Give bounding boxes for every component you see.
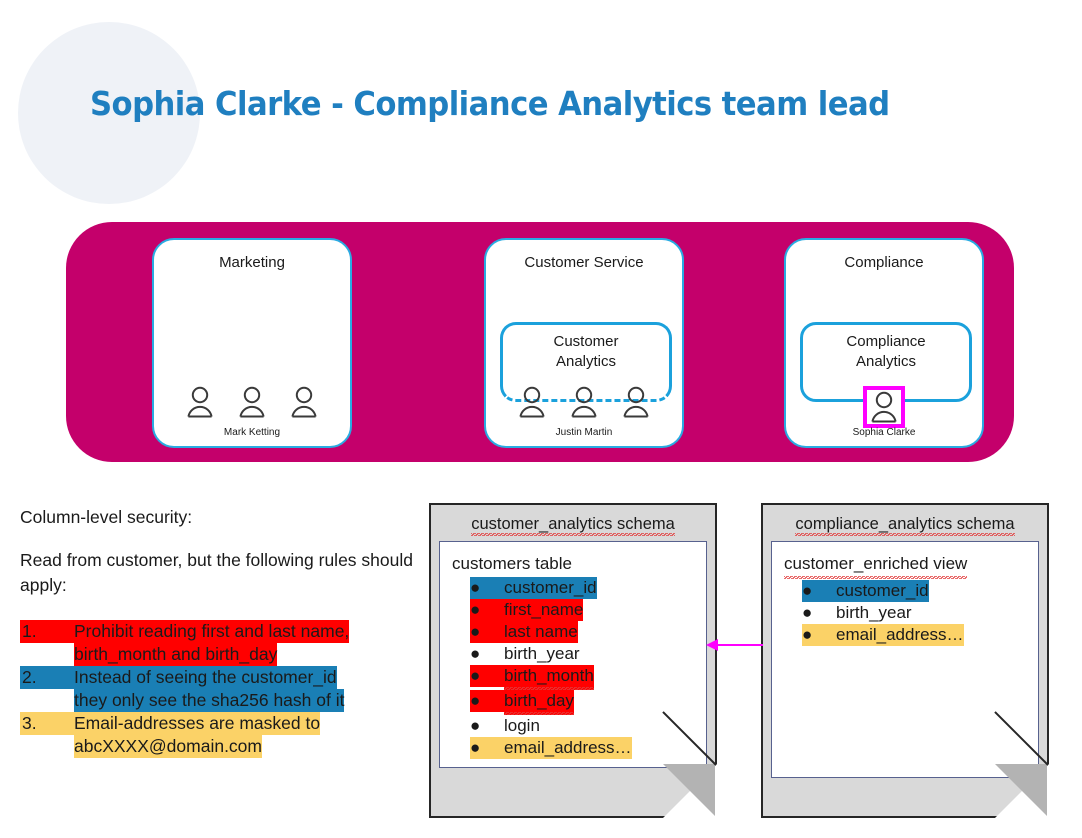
schema-connector-arrow — [717, 644, 763, 646]
person-icon-wrap — [185, 386, 215, 418]
person-icon — [621, 386, 651, 418]
person-icon-wrap — [289, 386, 319, 418]
department-owner: Justin Martin — [486, 427, 682, 438]
object-title: customers table — [452, 552, 572, 576]
person-icon — [569, 386, 599, 418]
rule-line: Instead of seeing the customer_id — [74, 666, 337, 689]
page-fold-triangle — [995, 764, 1047, 816]
column-name: last name — [504, 621, 578, 643]
rule-text: Email-addresses are masked to abcXXXX@do… — [74, 712, 420, 758]
page-fold-triangle — [663, 764, 715, 816]
column-row: ● first_name — [452, 599, 583, 621]
column-row: ● customer_id — [452, 577, 597, 599]
schema-title-text: compliance_analytics schema — [795, 515, 1014, 536]
column-list: ● customer_id ● birth_year ● email_addre… — [784, 580, 1032, 646]
notes-heading: Column-level security: — [20, 505, 420, 530]
person-row — [154, 386, 350, 418]
rules-list: 1. Prohibit reading first and last name,… — [20, 620, 420, 758]
department-title: Compliance — [786, 254, 982, 271]
column-row: ● birth_year — [784, 602, 912, 624]
rule-text: Instead of seeing the customer_id they o… — [74, 666, 420, 712]
schema-title-text: customer_analytics schema — [471, 515, 675, 536]
column-name: login — [504, 715, 540, 737]
arrow-left-icon — [706, 639, 718, 651]
rule-text: Prohibit reading first and last name, bi… — [74, 620, 420, 666]
column-name: customer_id — [504, 577, 597, 599]
department-title: Customer Service — [486, 254, 682, 271]
schema-document-customer-analytics[interactable]: customer_analytics schema customers tabl… — [429, 503, 717, 818]
column-name: first_name — [504, 599, 583, 621]
schema-title: compliance_analytics schema — [763, 515, 1047, 534]
rule-line: Email-addresses are masked to — [74, 712, 320, 735]
bullet-icon: ● — [470, 665, 504, 687]
rule-item: 1. Prohibit reading first and last name,… — [20, 620, 420, 666]
notes-intro: Read from customer, but the following ru… — [20, 548, 420, 598]
column-row: ● birth_month — [452, 665, 594, 690]
page-title: Sophia Clarke - Compliance Analytics tea… — [90, 84, 890, 123]
rule-line: Prohibit reading first and last name, — [74, 620, 349, 643]
department-owner: Sophia Clarke — [786, 427, 982, 438]
column-row: ● last name — [452, 621, 578, 643]
highlighted-person-icon-wrap[interactable] — [863, 386, 905, 428]
notes-block: Column-level security: Read from custome… — [20, 505, 420, 758]
person-icon — [185, 386, 215, 418]
person-icon — [289, 386, 319, 418]
column-name: email_address… — [504, 737, 632, 759]
schema-object-panel: customers table ● customer_id ● first_na… — [439, 541, 707, 768]
column-name: email_address… — [836, 624, 964, 646]
column-row: ● login — [452, 715, 540, 737]
rule-item: 2. Instead of seeing the customer_id the… — [20, 666, 420, 712]
column-name: customer_id — [836, 580, 929, 602]
person-icon-wrap — [517, 386, 547, 418]
column-row: ● email_address… — [784, 624, 964, 646]
department-title: Marketing — [154, 254, 350, 271]
rule-line: birth_month and birth_day — [74, 643, 277, 666]
bullet-icon: ● — [470, 621, 504, 643]
bullet-icon: ● — [802, 602, 836, 624]
column-row: ● birth_year — [452, 643, 580, 665]
column-row: ● customer_id — [784, 580, 929, 602]
person-icon — [517, 386, 547, 418]
bullet-icon: ● — [802, 624, 836, 646]
schema-title: customer_analytics schema — [431, 515, 715, 534]
bullet-icon: ● — [470, 737, 504, 759]
department-card-marketing[interactable]: Marketing Mark Ketting — [152, 238, 352, 448]
bullet-icon: ● — [802, 580, 836, 602]
person-icon — [869, 391, 899, 423]
object-title: customer_enriched view — [784, 552, 967, 579]
rule-number: 3. — [20, 712, 74, 735]
department-card-customer-service[interactable]: Customer Service Customer Analytics — [484, 238, 684, 448]
person-icon — [237, 386, 267, 418]
department-owner: Mark Ketting — [154, 427, 350, 438]
column-row: ● email_address… — [452, 737, 632, 759]
bullet-icon: ● — [470, 690, 504, 712]
rule-number: 1. — [20, 620, 74, 643]
column-list: ● customer_id ● first_name ● last name ●… — [452, 577, 700, 759]
person-row — [786, 386, 982, 428]
person-icon-wrap — [621, 386, 651, 418]
department-card-compliance[interactable]: Compliance Compliance Analytics Sophia C… — [784, 238, 984, 448]
analytics-team-label: Customer Analytics — [503, 332, 669, 372]
bullet-icon: ● — [470, 577, 504, 599]
rule-number: 2. — [20, 666, 74, 689]
rule-line: abcXXXX@domain.com — [74, 735, 262, 758]
bullet-icon: ● — [470, 599, 504, 621]
schema-object-panel: customer_enriched view ● customer_id ● b… — [771, 541, 1039, 778]
analytics-team-label: Compliance Analytics — [803, 332, 969, 372]
column-name: birth_day — [504, 690, 574, 715]
person-icon-wrap — [569, 386, 599, 418]
person-icon-wrap — [237, 386, 267, 418]
column-row: ● birth_day — [452, 690, 574, 715]
schema-document-compliance-analytics[interactable]: compliance_analytics schema customer_enr… — [761, 503, 1049, 818]
bullet-icon: ● — [470, 643, 504, 665]
person-row — [486, 386, 682, 418]
bullet-icon: ● — [470, 715, 504, 737]
column-name: birth_year — [504, 643, 580, 665]
rule-item: 3. Email-addresses are masked to abcXXXX… — [20, 712, 420, 758]
rule-line: they only see the sha256 hash of it — [74, 689, 344, 712]
column-name: birth_year — [836, 602, 912, 624]
column-name: birth_month — [504, 665, 594, 690]
